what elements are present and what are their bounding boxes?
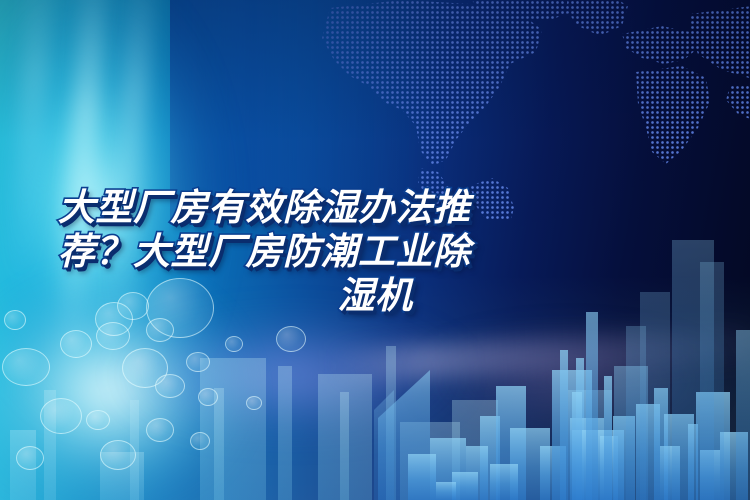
headline-line-2: 荐？大型厂房防潮工业除 [58, 230, 692, 274]
bubble [190, 432, 210, 450]
bubble [40, 398, 82, 434]
bubble [246, 396, 262, 410]
promo-banner: 大型厂房有效除湿办法推 荐？大型厂房防潮工业除 湿机 [0, 0, 750, 500]
bubble [100, 440, 136, 470]
bubble [96, 322, 130, 350]
bubble [60, 330, 92, 358]
headline-line-1: 大型厂房有效除湿办法推 [58, 186, 692, 230]
bubble [198, 388, 218, 406]
bubble [146, 318, 174, 342]
headline-line-3: 湿机 [58, 274, 692, 318]
headline: 大型厂房有效除湿办法推 荐？大型厂房防潮工业除 湿机 [0, 186, 750, 318]
bubble [186, 352, 210, 372]
bubble [16, 446, 44, 470]
bubble [146, 418, 174, 442]
bubble [155, 374, 185, 398]
bubble [225, 336, 243, 352]
bubble [2, 348, 50, 386]
bubble [276, 326, 306, 352]
bubble [86, 410, 110, 430]
